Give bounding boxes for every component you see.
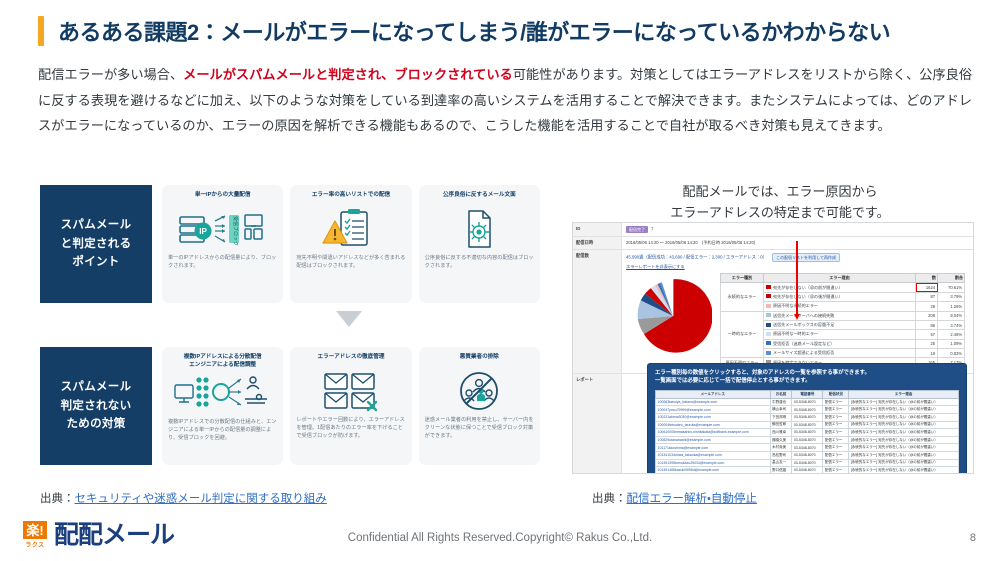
- band-label-line: スパムメール: [61, 216, 132, 235]
- cell-percent: 3.79%: [938, 292, 965, 301]
- cell-email: 101171kkoshima@example.com: [656, 444, 771, 452]
- card-group-countermeasures: 複数IPアドレスによる分散配信 エンジニアによる配信調整: [162, 347, 540, 465]
- diagram-band-spam-points: スパムメール と判定される ポイント 単一IPからの大量配信: [40, 185, 540, 303]
- reason-text: 宛先が存在しない（@の後が間違い）: [773, 294, 843, 299]
- app-id-value: 7: [651, 227, 653, 232]
- card-desc: 単一のIPアドレスからの配信量により、ブロックされます。: [168, 254, 277, 270]
- cell-category: 永続的なエラー: [721, 283, 764, 311]
- cell-reason: 送信先メールサーバへの接続失敗: [764, 311, 916, 320]
- cell-tel: 03-5348-8070: [792, 444, 823, 452]
- pointer-line: [796, 241, 798, 315]
- reason-text: 受信拒否（迷惑メール設定など）: [773, 341, 834, 346]
- source-right-link[interactable]: 配信エラー解析・自動停止: [627, 493, 757, 505]
- cell-email: 100829utanahashi@example.com: [656, 436, 771, 444]
- cell-percent: 1.09%: [938, 339, 965, 348]
- cell-tel: 03-5348-8070: [792, 406, 823, 414]
- slide-root: あるある課題2：メールがエラーになってしまう/誰がエラーになっているかわからない…: [0, 0, 1000, 561]
- app-label-datetime: 配信日時: [573, 237, 622, 249]
- card-desc: 複数IPアドレスでの分散配信の仕組みと、エンジニアによる単一IPからの配信量の調…: [168, 418, 277, 442]
- source-left: 出典：セキュリティや迷惑メール判定に関する取り組み: [40, 490, 327, 506]
- callout-line1: エラー種別毎の数値をクリックすると、対象のアドレスの一覧を参照する事ができます。: [655, 369, 959, 377]
- cell-reason: メールサイズ超過による受信拒否: [764, 349, 916, 358]
- th-email: メールアドレス: [656, 390, 771, 398]
- band-label-line: と判定される: [61, 235, 132, 254]
- page-number: 8: [970, 532, 976, 544]
- cell-status: 配信エラー: [823, 421, 849, 429]
- address-list-table: メールアドレス お名前 電話番号 配信状況 エラー理由 100063tatsuy…: [655, 390, 959, 474]
- lead-part1: 配信エラーが多い場合、: [38, 67, 183, 82]
- cell-reason: [永続的なエラー] 宛先が存在しない（@の前が間違い）: [849, 467, 959, 474]
- cell-email: 100610005mmasahiro.nishitakata@softbank.…: [656, 429, 771, 437]
- cell-count[interactable]: 87: [916, 292, 938, 301]
- svg-text:IP: IP: [199, 227, 207, 236]
- address-row[interactable]: 101391395tomokazu25034@example.com畠山友一03…: [656, 459, 959, 467]
- right-caption: 配配メールでは、エラー原因から エラーアドレスの特定まで可能です。: [580, 182, 980, 224]
- cell-reason: [永続的なエラー] 宛先が存在しない（@の前が間違い）: [849, 421, 959, 429]
- app-label-id: ID: [573, 223, 622, 236]
- th-percent: 割合: [938, 274, 965, 283]
- card-title: 悪質業者の排除: [460, 353, 499, 367]
- cell-tel: 03-5348-8070: [792, 413, 823, 421]
- cell-count[interactable]: 86: [916, 320, 938, 329]
- cell-email: 101491486kazuki9055d@example.com: [656, 467, 771, 474]
- app-value-id: 配信完了7: [622, 223, 973, 236]
- cell-status: 配信エラー: [823, 398, 849, 406]
- address-row[interactable]: 100221akima3030@example.com下田邦晴03-5348-8…: [656, 413, 959, 421]
- app-screenshot: ID 配信完了7 配信日時 2016/05/06 14:20 ～ 2016/05…: [572, 222, 974, 474]
- card-title-line: 複数IPアドレスによる分散配信: [184, 353, 262, 361]
- band-label-line: ポイント: [72, 253, 119, 272]
- card-desc: 迷惑メール業者の利用を禁止し、サーバー内をクリーンな状態に保つことで受信ブロック…: [425, 416, 534, 440]
- cell-status: 配信エラー: [823, 429, 849, 437]
- th-name: お名前: [770, 390, 792, 398]
- cell-reason: 宛先が存在しない（@の後が間違い）: [764, 292, 916, 301]
- cell-count[interactable]: 208: [916, 311, 938, 320]
- cell-tel: 03-5348-8070: [792, 398, 823, 406]
- address-row[interactable]: 100047yosu79999@example.com横山幸司03-5348-8…: [656, 406, 959, 414]
- error-reason-table: エラー種別 エラー理由 数 割合 永続的なエラー 宛先が存在しない（@の前が間違…: [720, 273, 965, 368]
- card-title: エラーアドレスの徹底管理: [318, 353, 385, 367]
- cell-reason: 宛先が存在しない（@の前が間違い）: [764, 283, 916, 292]
- card-desc: 公序良俗に反する不適切な内容の配信はブロックされます。: [425, 254, 534, 270]
- cell-percent: 2.48%: [938, 330, 965, 339]
- cell-status: 配信エラー: [823, 406, 849, 414]
- cell-name: 鶴田哲郎: [770, 421, 792, 429]
- source-right-prefix: 出典：: [592, 493, 627, 505]
- arrow-down-icon: [336, 311, 362, 327]
- source-left-link[interactable]: セキュリティや迷惑メール判定に関する取り組み: [75, 493, 327, 505]
- cell-tel: 03-5348-8070: [792, 429, 823, 437]
- lead-highlight: メールがスパムメールと判定され、ブロックされている: [183, 67, 513, 82]
- th-reason: エラー理由: [849, 390, 959, 398]
- band-label-line: スパムメール: [61, 378, 132, 397]
- reason-text: 送信先メールボックスの容量不足: [773, 322, 834, 327]
- app-row-datetime: 配信日時 2016/05/06 14:20 ～ 2016/05/06 14:20…: [573, 237, 973, 250]
- cell-percent: 9.04%: [938, 311, 965, 320]
- toggle-error-report-link[interactable]: エラーレポートを非表示にする: [626, 264, 685, 269]
- th-count: 数: [916, 274, 938, 283]
- card-title-line: エンジニアによる配信調整: [184, 361, 262, 369]
- app-value-datetime: 2016/05/06 14:20 ～ 2016/05/06 14:20 (予約日…: [622, 237, 973, 249]
- address-row[interactable]: 100004tetsutaro_tsuruta@example.com鶴田哲郎0…: [656, 421, 959, 429]
- cell-reason: [永続的なエラー] 宛先が存在しない（@の前が間違い）: [849, 406, 959, 414]
- cell-reason: [永続的なエラー] 宛先が存在しない（@の前が間違い）: [849, 459, 959, 467]
- cell-tel: 03-5348-8070: [792, 459, 823, 467]
- card-title: 公序良俗に反するメール文面: [443, 191, 516, 205]
- cell-tel: 03-5348-8070: [792, 467, 823, 474]
- address-row[interactable]: 100063tatsuya_katano@example.com牛野達也03-5…: [656, 398, 959, 406]
- server-ip-block-icon: IP 受信ブロック: [177, 206, 269, 252]
- card-desc: 宛先不明や間違いアドレスなどが多く含まれる配信はブロックされます。: [296, 254, 405, 270]
- address-row[interactable]: 100610005mmasahiro.nishitakata@softbank.…: [656, 429, 959, 437]
- pie-svg: [634, 277, 712, 355]
- app-row-id: ID 配信完了7: [573, 223, 973, 237]
- cell-status: 配信エラー: [823, 467, 849, 474]
- cell-name: 西川雅幸: [770, 429, 792, 437]
- error-pie-chart: [630, 273, 716, 368]
- warning-checklist-icon: [321, 206, 381, 252]
- mail-error-icon: [321, 368, 381, 414]
- cell-status: 配信エラー: [823, 413, 849, 421]
- cell-category: 一時的なエラー: [721, 311, 764, 358]
- cell-email: 100063tatsuya_katano@example.com: [656, 398, 771, 406]
- cell-name: 畠山友一: [770, 459, 792, 467]
- cell-status: 配信エラー: [823, 436, 849, 444]
- card-error-address-management: エラーアドレスの徹底管理: [290, 347, 411, 465]
- th-status: 配信状況: [823, 390, 849, 398]
- cell-percent: 1.26%: [938, 302, 965, 311]
- cell-reason: 受信拒否（迷惑メール設定など）: [764, 339, 916, 348]
- cell-email: 100221akima3030@example.com: [656, 413, 771, 421]
- cell-reason: 原因不明な永続的エラー: [764, 302, 916, 311]
- card-title: 複数IPアドレスによる分散配信 エンジニアによる配信調整: [184, 353, 262, 369]
- cell-email: 100004tetsutaro_tsuruta@example.com: [656, 421, 771, 429]
- cell-percent: 0.83%: [938, 349, 965, 358]
- reason-text: メールサイズ超過による受信拒否: [773, 350, 834, 355]
- copyright-text: Confidential All Rights Reserved.Copyrig…: [0, 532, 1000, 544]
- right-caption-line2: エラーアドレスの特定まで可能です。: [580, 203, 980, 224]
- right-caption-line1: 配配メールでは、エラー原因から: [580, 182, 980, 203]
- svg-text:受信ブロック: 受信ブロック: [232, 216, 239, 246]
- card-single-ip-bulk: 単一IPからの大量配信 IP: [162, 185, 283, 303]
- address-row[interactable]: 101341034miwa_takaoka@example.com高松野司03-…: [656, 451, 959, 459]
- card-desc: レポートやエラー回数により、エラーアドレスを管理。1配信あたりのエラー率を下げる…: [296, 416, 405, 440]
- page-title: あるある課題2：メールがエラーになってしまう/誰がエラーになっているかわからない: [38, 14, 978, 48]
- app-value-stats: 45,990通（配信成功：43,690 / 配信エラー：2,300 / エラーア…: [622, 250, 973, 373]
- cell-reason: [永続的なエラー] 宛先が存在しない（@の前が間違い）: [849, 429, 959, 437]
- address-row[interactable]: 101171kkoshima@example.com木村貴美03-5348-80…: [656, 444, 959, 452]
- reason-text: 送信先メールサーバへの接続失敗: [773, 313, 834, 318]
- callout-box: エラー種別毎の数値をクリックすると、対象のアドレスの一覧を参照する事ができます。…: [647, 363, 967, 474]
- cell-reason: 原因不明な一時的エラー: [764, 330, 916, 339]
- cell-count[interactable]: 25: [916, 339, 938, 348]
- cell-reason: [永続的なエラー] 宛先が存在しない（@の前が間違い）: [849, 451, 959, 459]
- cell-reason: [永続的なエラー] 宛先が存在しない（@の前が間違い）: [849, 444, 959, 452]
- cell-tel: 03-5348-8070: [792, 421, 823, 429]
- source-right: 出典：配信エラー解析・自動停止: [592, 490, 757, 506]
- color-swatch: [766, 351, 771, 355]
- cell-tel: 03-5348-8070: [792, 451, 823, 459]
- card-high-error-list: エラー率の高いリストでの配信: [290, 185, 411, 303]
- cell-status: 配信エラー: [823, 459, 849, 467]
- band-label-line: 判定されない: [61, 397, 132, 416]
- diagram-band-countermeasures: スパムメール 判定されない ための対策 複数IPアドレスによる分散配信 エンジニ…: [40, 347, 540, 465]
- color-swatch: [766, 294, 771, 298]
- distributed-network-icon: [173, 370, 273, 416]
- color-swatch: [766, 332, 771, 336]
- lead-paragraph: 配信エラーが多い場合、メールがスパムメールと判定され、ブロックされている可能性が…: [38, 62, 972, 139]
- cell-status: 配信エラー: [823, 444, 849, 452]
- band-label-countermeasures: スパムメール 判定されない ための対策: [40, 347, 152, 465]
- status-badge: 配信完了: [626, 226, 648, 233]
- table-row: 永続的なエラー 宛先が存在しない（@の前が間違い） 1624 70.61%: [721, 283, 965, 292]
- card-title: 単一IPからの大量配信: [195, 191, 251, 205]
- card-exclude-bad-vendors: 悪質業者の排除: [419, 347, 540, 465]
- cell-status: 配信エラー: [823, 451, 849, 459]
- card-group-spam-points: 単一IPからの大量配信 IP: [162, 185, 540, 303]
- reason-text: 原因不明な一時的エラー: [773, 331, 818, 336]
- cell-percent: 3.74%: [938, 320, 965, 329]
- cell-count[interactable]: 29: [916, 302, 938, 311]
- title-accent-bar: [38, 16, 44, 46]
- cell-count[interactable]: 1624: [916, 283, 938, 292]
- reason-text: 宛先が存在しない（@の前が間違い）: [773, 285, 843, 290]
- cell-reason: 送信先メールボックスの容量不足: [764, 320, 916, 329]
- title-text: あるある課題2：メールがエラーになってしまう/誰がエラーになっているかわからない: [58, 15, 890, 47]
- th-tel: 電話番号: [792, 390, 823, 398]
- cell-count[interactable]: 19: [916, 349, 938, 358]
- cell-name: 高松野司: [770, 451, 792, 459]
- source-left-prefix: 出典：: [40, 493, 75, 505]
- table-header-row: エラー種別 エラー理由 数 割合: [721, 274, 965, 283]
- callout-line2: 一覧画面では必要に応じて一括で配信停止とする事ができます。: [655, 377, 959, 385]
- cell-email: 101391395tomokazu25034@example.com: [656, 459, 771, 467]
- cell-name: 棚橋久美: [770, 436, 792, 444]
- cell-tel: 03-5348-8070: [792, 436, 823, 444]
- stats-text: 45,990通（配信成功：43,690 / 配信エラー：2,300 / エラーア…: [626, 255, 767, 260]
- cell-email: 101341034miwa_takaoka@example.com: [656, 451, 771, 459]
- address-row[interactable]: 101491486kazuki9055d@example.com野口信雄03-5…: [656, 467, 959, 474]
- band-label-line: ための対策: [67, 415, 126, 434]
- color-swatch: [766, 313, 771, 317]
- card-multi-ip-distribution: 複数IPアドレスによる分散配信 エンジニアによる配信調整: [162, 347, 283, 465]
- app-label-count: 配信数: [573, 250, 622, 373]
- color-swatch: [766, 323, 771, 327]
- cell-reason: [永続的なエラー] 宛先が存在しない（@の前が間違い）: [849, 398, 959, 406]
- cell-email: 100047yosu79999@example.com: [656, 406, 771, 414]
- cell-name: 下田邦晴: [770, 413, 792, 421]
- band-label-spam-points: スパムメール と判定される ポイント: [40, 185, 152, 303]
- cell-name: 木村貴美: [770, 444, 792, 452]
- color-swatch: [766, 304, 771, 308]
- th-error-type: エラー種別: [721, 274, 764, 283]
- card-title: エラー率の高いリストでの配信: [312, 191, 390, 205]
- color-swatch: [766, 341, 771, 345]
- spam-diagram: スパムメール と判定される ポイント 単一IPからの大量配信: [40, 185, 540, 485]
- app-label-report: レポート: [573, 374, 622, 474]
- app-row-stats: 配信数 45,990通（配信成功：43,690 / 配信エラー：2,300 / …: [573, 250, 973, 374]
- recreate-from-list-button[interactable]: この配信リストを利用して再作成: [772, 253, 840, 262]
- stats-summary: 45,990通（配信成功：43,690 / 配信エラー：2,300 / エラーア…: [626, 253, 969, 262]
- cell-percent: 70.61%: [938, 283, 965, 292]
- table-row: 一時的なエラー 送信先メールサーバへの接続失敗 208 9.04%: [721, 311, 965, 320]
- cell-name: 横山幸司: [770, 406, 792, 414]
- no-spammer-icon: [456, 368, 502, 414]
- cell-reason: [永続的なエラー] 宛先が存在しない（@の前が間違い）: [849, 436, 959, 444]
- cell-reason: [永続的なエラー] 宛先が存在しない（@の前が間違い）: [849, 413, 959, 421]
- color-swatch: [766, 285, 771, 289]
- address-row[interactable]: 100829utanahashi@example.com棚橋久美03-5348-…: [656, 436, 959, 444]
- card-offensive-content: 公序良俗に反するメール文面 公序良俗に反する不適切な内容の配信はブ: [419, 185, 540, 303]
- document-virus-icon: [457, 206, 501, 252]
- th-error-reason: エラー理由: [764, 274, 916, 283]
- cell-count[interactable]: 57: [916, 330, 938, 339]
- address-header-row: メールアドレス お名前 電話番号 配信状況 エラー理由: [656, 390, 959, 398]
- cell-name: 牛野達也: [770, 398, 792, 406]
- cell-name: 野口信雄: [770, 467, 792, 474]
